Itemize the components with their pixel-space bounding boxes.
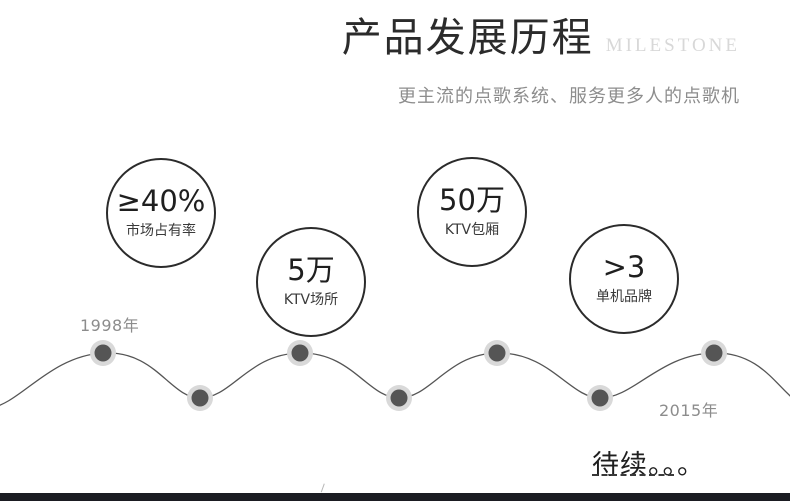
stat-value: >3 bbox=[603, 252, 646, 284]
timeline-node bbox=[287, 340, 313, 366]
stat-circle-market-share: ≥40% 市场占有率 bbox=[106, 158, 216, 268]
stat-label: KTV包厢 bbox=[445, 222, 499, 239]
bottom-bar bbox=[0, 493, 790, 501]
page-subtitle: 更主流的点歌系统、服务更多人的点歌机 bbox=[0, 82, 740, 108]
stat-label: 市场占有率 bbox=[126, 223, 196, 240]
page-title: 产品发展历程MILESTONE bbox=[0, 18, 740, 58]
stat-value: 50万 bbox=[439, 185, 505, 217]
header: 产品发展历程MILESTONE 更主流的点歌系统、服务更多人的点歌机 bbox=[0, 0, 790, 130]
stat-value: 5万 bbox=[287, 255, 334, 287]
timeline-node bbox=[187, 385, 213, 411]
stat-circle-ktv-venues: 5万 KTV场所 bbox=[256, 227, 366, 337]
stat-label: KTV场所 bbox=[284, 292, 338, 309]
footer-note-text: 待续。。。 bbox=[592, 450, 705, 481]
timeline-node bbox=[701, 340, 727, 366]
timeline-node bbox=[386, 385, 412, 411]
stat-value: ≥40% bbox=[117, 186, 206, 218]
milestone-infographic: 产品发展历程MILESTONE 更主流的点歌系统、服务更多人的点歌机 ≥40% … bbox=[0, 0, 790, 501]
footer-underline bbox=[592, 474, 674, 476]
title-chinese: 产品发展历程 bbox=[342, 15, 594, 61]
timeline-end-year: 2015年 bbox=[659, 397, 718, 421]
timeline-start-year: 1998年 bbox=[80, 312, 139, 336]
title-english: MILESTONE bbox=[606, 35, 740, 56]
footer-note: 待续。。。 bbox=[592, 443, 705, 482]
timeline-node bbox=[90, 340, 116, 366]
stat-label: 单机品牌 bbox=[596, 289, 652, 306]
stat-circle-ktv-rooms: 50万 KTV包厢 bbox=[417, 157, 527, 267]
timeline-node bbox=[484, 340, 510, 366]
stat-circle-standalone-brands: >3 单机品牌 bbox=[569, 224, 679, 334]
timeline-node bbox=[587, 385, 613, 411]
